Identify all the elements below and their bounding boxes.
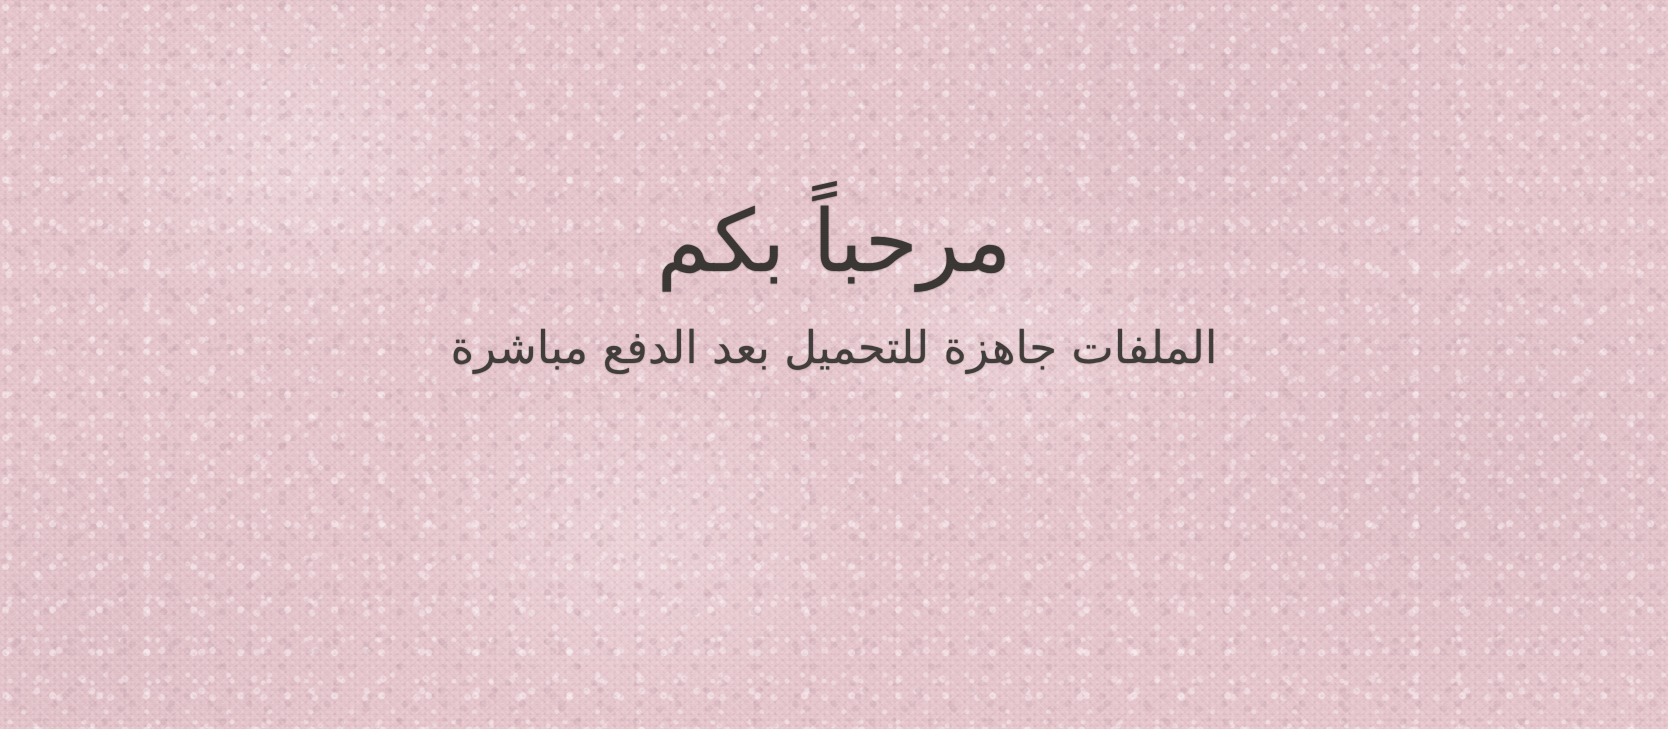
welcome-slide: مرحباً بكم الملفات جاهزة للتحميل بعد الد… [0,0,1668,729]
text-block: مرحباً بكم الملفات جاهزة للتحميل بعد الد… [0,0,1668,729]
welcome-subheadline: الملفات جاهزة للتحميل بعد الدفع مباشرة [0,320,1668,376]
welcome-headline: مرحباً بكم [0,196,1668,289]
